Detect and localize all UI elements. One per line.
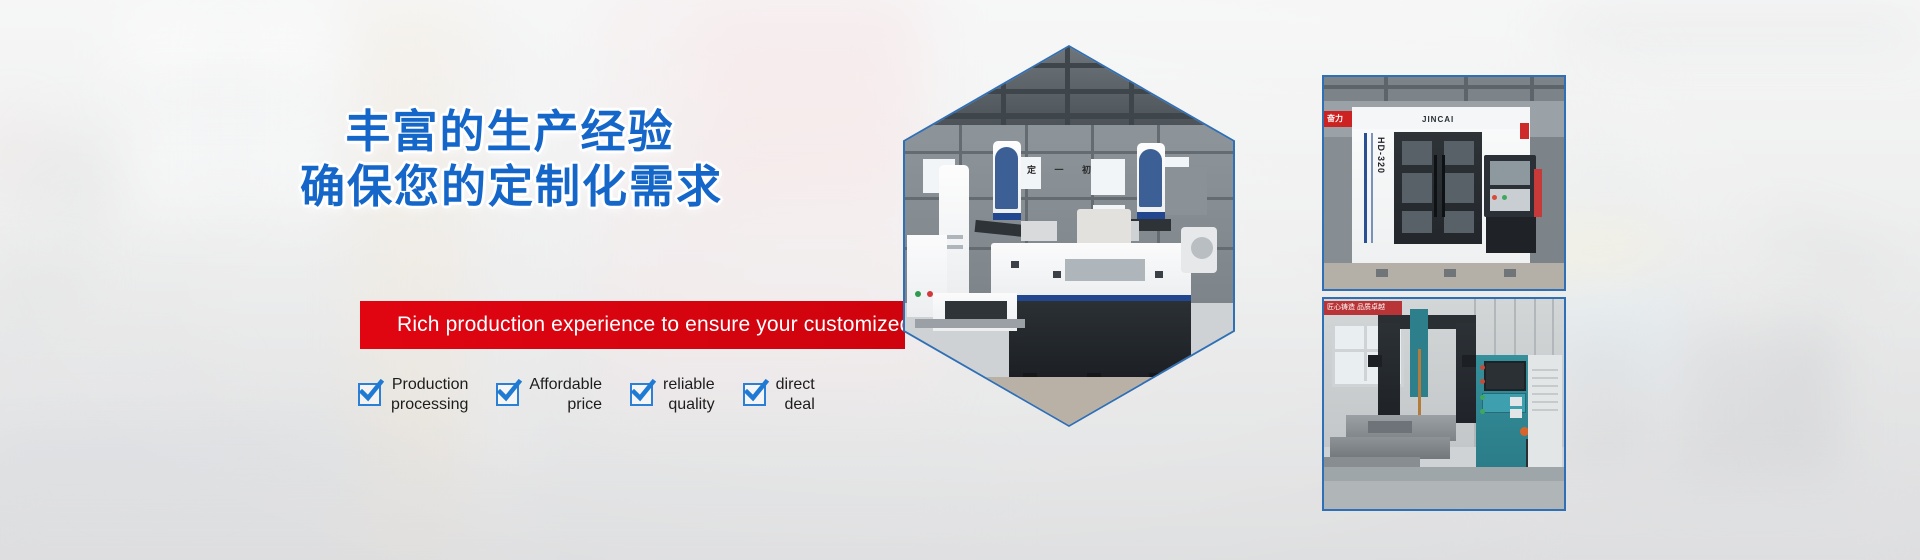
hexagon-photo-content: 定 一 初 (905, 47, 1233, 425)
feature-item: reliable quality (630, 375, 715, 415)
feature-label: direct deal (776, 375, 815, 415)
feature-label: Production processing (391, 375, 468, 415)
checkbox-checked-icon (496, 383, 519, 406)
side-photo-machining-center: 奋力 HD-320 JINCAI (1322, 75, 1566, 291)
machine-brand-label: JINCAI (1422, 115, 1454, 124)
hero-banner: 丰富的生产经验 确保您的定制化需求 Rich production experi… (0, 0, 1920, 560)
checkbox-checked-icon (630, 383, 653, 406)
feature-list: Production processing Affordable price r… (358, 375, 908, 437)
feature-label: Affordable price (529, 375, 602, 415)
subtitle-bar: Rich production experience to ensure you… (360, 301, 905, 349)
checkbox-checked-icon (743, 383, 766, 406)
workshop-wall-sign: 定 一 初 (1027, 163, 1099, 176)
side-photo-gantry-machine: 匠心铸造 品质卓越 (1322, 297, 1566, 511)
headline-line-2: 确保您的定制化需求 (300, 159, 720, 214)
headline-line-1: 丰富的生产经验 (300, 104, 720, 159)
side-photo-column: 奋力 HD-320 JINCAI (1322, 75, 1562, 507)
feature-item: Affordable price (496, 375, 602, 415)
checkbox-checked-icon (358, 383, 381, 406)
feature-item: Production processing (358, 375, 468, 415)
subtitle-text: Rich production experience to ensure you… (360, 313, 975, 337)
wall-banner: 匠心铸造 品质卓越 (1324, 301, 1402, 315)
banner-copy: 丰富的生产经验 确保您的定制化需求 Rich production experi… (0, 0, 905, 560)
hexagon-photo: 定 一 初 (903, 45, 1235, 427)
feature-label: reliable quality (663, 375, 715, 415)
feature-item: direct deal (743, 375, 815, 415)
machine-model-label: HD-320 (1376, 137, 1386, 174)
headline: 丰富的生产经验 确保您的定制化需求 (300, 104, 720, 214)
